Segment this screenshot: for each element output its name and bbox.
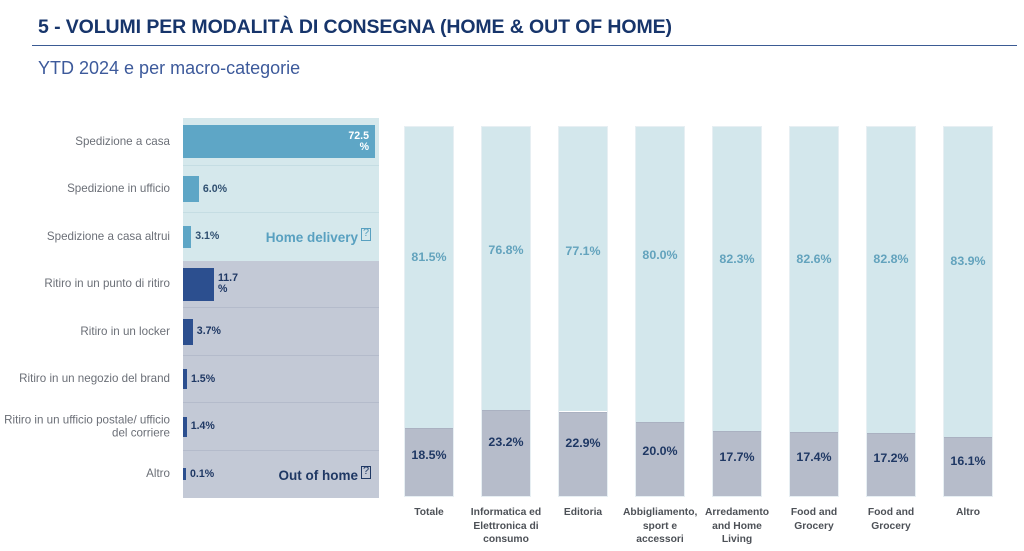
stacked-column[interactable]: 77.1%22.9%	[558, 126, 608, 497]
bar-category-label: Ritiro in un locker	[0, 325, 170, 339]
stacked-column-category-label: Food and Grocery	[777, 506, 851, 533]
stack-segment-out-of-home[interactable]: 22.9%	[559, 412, 607, 497]
bar-value-label: 1.5%	[191, 374, 215, 385]
stack-segment-value-label: 82.6%	[790, 252, 838, 266]
bar-value-label: 0.1%	[190, 469, 214, 480]
stack-segment-out-of-home[interactable]: 18.5%	[405, 428, 453, 496]
stack-segment-value-label: 81.5%	[405, 250, 453, 264]
bar-row: 72.5 %	[183, 125, 379, 158]
stack-segment-value-label: 23.2%	[482, 435, 530, 449]
stack-segment-home-delivery[interactable]: 76.8%	[482, 127, 530, 410]
stack-segment-out-of-home[interactable]: 17.2%	[867, 433, 915, 496]
stacked-column-category-label: Informatica ed Elettronica di consumo	[469, 506, 543, 547]
stack-segment-home-delivery[interactable]: 83.9%	[944, 127, 992, 437]
page-title: 5 - VOLUMI PER MODALITÀ DI CONSEGNA (HOM…	[38, 16, 672, 39]
bar-category-label: Spedizione a casa	[0, 135, 170, 149]
bar-value-label: 1.4%	[191, 421, 215, 432]
bar-category-label: Ritiro in un ufficio postale/ ufficio de…	[0, 413, 170, 440]
stacked-column-category-label: Food and Grocery	[854, 506, 928, 533]
bar-category-label: Spedizione in ufficio	[0, 182, 170, 196]
bar-value-label: 6.0%	[203, 184, 227, 195]
title-divider	[32, 45, 1017, 46]
stack-segment-value-label: 17.7%	[713, 450, 761, 464]
delivery-mode-bar-chart: Spedizione a casaSpedizione in ufficioSp…	[0, 118, 382, 500]
stacked-column-category-label: Altro	[931, 506, 1005, 520]
stacked-column-group: 77.1%22.9%Editoria	[558, 118, 608, 551]
bar-plot-area: 72.5 %6.0%3.1%11.7 %3.7%1.5%1.4%0.1%Home…	[183, 118, 379, 500]
missing-glyph-icon: ?	[361, 466, 371, 479]
stacked-column[interactable]: 80.0%20.0%	[635, 126, 685, 497]
stack-segment-home-delivery[interactable]: 82.6%	[790, 127, 838, 432]
stacked-column-category-label: Totale	[392, 506, 466, 520]
bar-row: 1.4%	[183, 417, 379, 437]
stack-segment-home-delivery[interactable]: 82.3%	[713, 127, 761, 431]
stack-segment-value-label: 17.4%	[790, 450, 838, 464]
bar-value-label: 3.7%	[197, 326, 221, 337]
missing-glyph-icon: ?	[361, 228, 371, 241]
bar-fill[interactable]	[183, 468, 186, 480]
stack-segment-home-delivery[interactable]: 77.1%	[559, 127, 607, 411]
bar-row: 1.5%	[183, 369, 379, 389]
bar-category-label-list: Spedizione a casaSpedizione in ufficioSp…	[0, 118, 178, 500]
stacked-column-group: 83.9%16.1%Altro	[943, 118, 993, 551]
stack-segment-value-label: 18.5%	[405, 448, 453, 462]
stacked-column-group: 76.8%23.2%Informatica ed Elettronica di …	[481, 118, 531, 551]
band-caption-text: Out of home	[279, 468, 359, 483]
stack-segment-value-label: 22.9%	[559, 436, 607, 450]
bar-value-label: 3.1%	[195, 231, 219, 242]
stack-segment-value-label: 83.9%	[944, 254, 992, 268]
stacked-column-group: 80.0%20.0%Abbigliamento, sport e accesso…	[635, 118, 685, 551]
stack-segment-value-label: 17.2%	[867, 451, 915, 465]
stack-segment-out-of-home[interactable]: 17.4%	[790, 432, 838, 496]
stack-segment-out-of-home[interactable]: 23.2%	[482, 410, 530, 496]
bar-fill[interactable]	[183, 369, 187, 389]
stack-segment-value-label: 20.0%	[636, 444, 684, 458]
stack-segment-value-label: 82.8%	[867, 252, 915, 266]
stack-segment-home-delivery[interactable]: 82.8%	[867, 127, 915, 433]
bar-fill[interactable]	[183, 176, 199, 202]
band-caption-text: Home delivery	[266, 230, 358, 245]
macro-category-stacked-chart: 81.5%18.5%Totale76.8%23.2%Informatica ed…	[394, 118, 1024, 551]
stack-segment-out-of-home[interactable]: 16.1%	[944, 437, 992, 496]
out-of-home-band-caption: Out of home?	[279, 466, 372, 483]
stacked-column-category-label: Abbigliamento, sport e accessori	[623, 506, 697, 547]
stack-segment-value-label: 77.1%	[559, 244, 607, 258]
stacked-column[interactable]: 82.6%17.4%	[789, 126, 839, 497]
stacked-column-group: 81.5%18.5%Totale	[404, 118, 454, 551]
stack-segment-value-label: 82.3%	[713, 252, 761, 266]
stacked-column-group: 82.6%17.4%Food and Grocery	[789, 118, 839, 551]
stacked-column-category-label: Arredamento and Home Living	[700, 506, 774, 547]
stacked-column-category-label: Editoria	[546, 506, 620, 520]
stacked-column[interactable]: 81.5%18.5%	[404, 126, 454, 497]
bar-value-label: 72.5 %	[348, 131, 369, 153]
stacked-column[interactable]: 82.8%17.2%	[866, 126, 916, 497]
stack-segment-home-delivery[interactable]: 81.5%	[405, 127, 453, 428]
stack-segment-value-label: 76.8%	[482, 243, 530, 257]
bar-category-label: Spedizione a casa altrui	[0, 230, 170, 244]
bar-category-label: Ritiro in un negozio del brand	[0, 372, 170, 386]
bar-fill[interactable]	[183, 417, 187, 437]
page-subtitle: YTD 2024 e per macro-categorie	[38, 58, 300, 79]
bar-value-label: 11.7 %	[218, 273, 238, 295]
bar-category-label: Altro	[0, 467, 170, 481]
home-delivery-band-caption: Home delivery?	[266, 228, 371, 245]
stacked-column[interactable]: 83.9%16.1%	[943, 126, 993, 497]
stack-segment-out-of-home[interactable]: 17.7%	[713, 431, 761, 496]
bar-category-label: Ritiro in un punto di ritiro	[0, 277, 170, 291]
stack-segment-value-label: 80.0%	[636, 248, 684, 262]
bar-fill[interactable]: 72.5 %	[183, 125, 375, 158]
bar-fill[interactable]	[183, 319, 193, 345]
stacked-column[interactable]: 82.3%17.7%	[712, 126, 762, 497]
bar-row: 3.7%	[183, 319, 379, 345]
bar-fill[interactable]	[183, 268, 214, 301]
bar-row: 6.0%	[183, 176, 379, 202]
stacked-column[interactable]: 76.8%23.2%	[481, 126, 531, 497]
stack-segment-out-of-home[interactable]: 20.0%	[636, 422, 684, 496]
bar-fill[interactable]	[183, 226, 191, 248]
stacked-column-group: 82.3%17.7%Arredamento and Home Living	[712, 118, 762, 551]
stacked-column-group: 82.8%17.2%Food and Grocery	[866, 118, 916, 551]
stack-segment-home-delivery[interactable]: 80.0%	[636, 127, 684, 422]
stack-segment-value-label: 16.1%	[944, 454, 992, 468]
bar-row: 11.7 %	[183, 268, 379, 301]
